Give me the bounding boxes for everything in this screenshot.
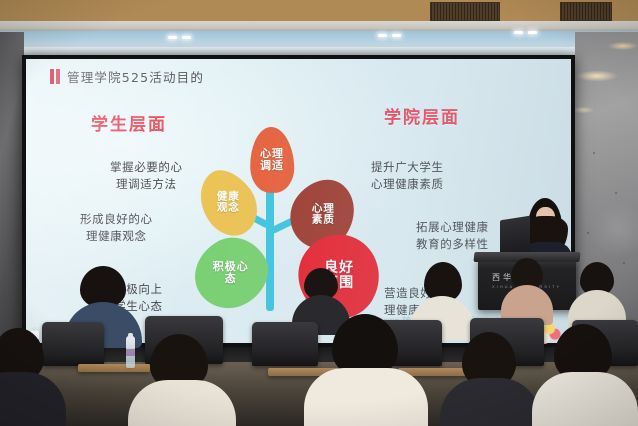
- column-heading-college: 学院层面: [384, 103, 460, 128]
- audience-area: [0, 306, 638, 426]
- leaf-xinli-tiaoshi: 心理 调适: [249, 126, 295, 193]
- bullet-college-2: 拓展心理健康 教育的多样性: [416, 219, 489, 252]
- leaf-label: 心理 素质: [312, 203, 335, 225]
- ceiling-light: [514, 31, 523, 34]
- water-bottle: [126, 336, 135, 368]
- lecture-hall-photo: 管理学院525活动目的 学生层面 学院层面 掌握必要的心 理调适方法 形成良好的…: [0, 0, 638, 426]
- ceiling-light: [168, 36, 177, 39]
- ceiling-light-band: [0, 31, 638, 55]
- leaf-label: 心理 调适: [260, 148, 284, 171]
- plant-stem: [266, 179, 274, 311]
- wood-slat-ceiling: [0, 0, 638, 22]
- audience-shoulders: [0, 372, 66, 426]
- slide-title: 管理学院525活动目的: [50, 67, 204, 86]
- ceiling-light: [182, 36, 191, 39]
- leaf-label: 积极心 态: [213, 261, 249, 284]
- audience-shoulders: [304, 368, 428, 426]
- column-heading-students: 学生层面: [91, 110, 167, 135]
- ceiling-vent: [560, 2, 612, 21]
- audience-chair: [252, 322, 318, 366]
- slide-title-text: 管理学院525活动目的: [67, 67, 204, 86]
- ceiling-vent: [430, 2, 500, 21]
- bullet-student-2: 形成良好的心 理健康观念: [80, 211, 153, 244]
- audience-shoulders: [532, 372, 638, 426]
- ceiling-light: [528, 31, 537, 34]
- ceiling-light: [378, 34, 387, 37]
- audience-chair: [42, 322, 104, 366]
- bullet-student-1: 掌握必要的心 理调适方法: [110, 159, 183, 192]
- leaf-label: 健康 观念: [217, 192, 240, 214]
- tablet-desk: [78, 364, 150, 372]
- audience-shoulders: [128, 380, 236, 426]
- audience-shoulders: [440, 378, 540, 426]
- ceiling-light: [392, 34, 401, 37]
- title-accent-bars-icon: [50, 69, 60, 84]
